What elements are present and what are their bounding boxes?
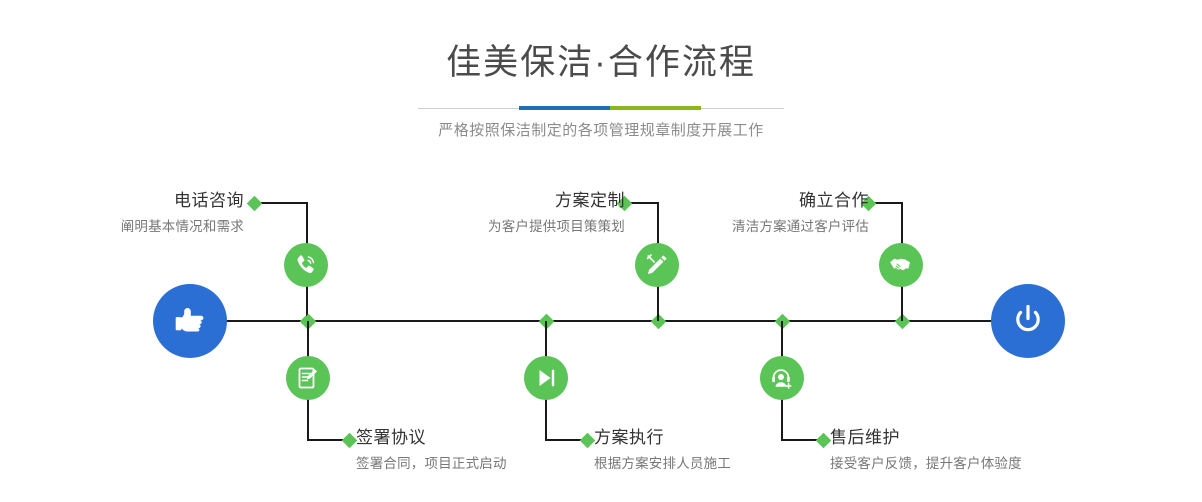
step-desc-2: 签署合同，项目正式启动 <box>356 457 507 471</box>
step-title-1: 电话咨询 <box>121 192 244 209</box>
power-icon <box>1008 299 1048 344</box>
title-divider <box>418 106 784 110</box>
step-desc-4: 根据方案安排人员施工 <box>594 457 731 471</box>
step-desc-1: 阐明基本情况和需求 <box>121 220 244 234</box>
cooperation-process-infographic: 佳美保洁·合作流程 严格按照保洁制定的各项管理规章制度开展工作 <box>0 0 1202 502</box>
step-label-6: 售后维护 接受客户反馈，提升客户体验度 <box>830 429 1022 471</box>
step-desc-3: 为客户提供项目策策划 <box>488 220 625 234</box>
step-label-4: 方案执行 根据方案安排人员施工 <box>594 429 731 471</box>
step-label-3: 方案定制 为客户提供项目策策划 <box>488 192 625 234</box>
step-title-2: 签署协议 <box>356 429 507 446</box>
label-diamond-2 <box>342 432 358 448</box>
step-icon-5[interactable] <box>879 243 923 287</box>
pencil-plan-icon <box>644 252 670 278</box>
label-diamond-6 <box>816 432 832 448</box>
label-diamond-1 <box>247 195 263 211</box>
header: 佳美保洁·合作流程 严格按照保洁制定的各项管理规章制度开展工作 <box>0 0 1202 138</box>
label-diamond-4 <box>580 432 596 448</box>
step-desc-6: 接受客户反馈，提升客户体验度 <box>830 457 1022 471</box>
divider-segment-green <box>610 106 701 110</box>
step-label-2: 签署协议 签署合同，项目正式启动 <box>356 429 507 471</box>
step-title-3: 方案定制 <box>488 192 625 209</box>
play-execute-icon <box>533 365 559 391</box>
phone-call-icon <box>293 252 319 278</box>
step-icon-4[interactable] <box>524 356 568 400</box>
customer-service-icon <box>769 365 795 391</box>
step-title-5: 确立合作 <box>732 192 869 209</box>
step-label-1: 电话咨询 阐明基本情况和需求 <box>121 192 244 234</box>
handshake-icon <box>888 252 914 278</box>
timeline-axis <box>196 320 1006 322</box>
step-icon-1[interactable] <box>284 243 328 287</box>
document-edit-icon <box>295 365 321 391</box>
step-label-5: 确立合作 清洁方案通过客户评估 <box>732 192 869 234</box>
step-icon-2[interactable] <box>286 356 330 400</box>
step-icon-3[interactable] <box>635 243 679 287</box>
timeline-start-endpoint <box>153 284 227 358</box>
step-title-6: 售后维护 <box>830 429 1022 446</box>
timeline-end-endpoint <box>991 284 1065 358</box>
pointing-hand-icon <box>170 299 210 344</box>
divider-segment-blue <box>519 106 610 110</box>
step-icon-6[interactable] <box>760 356 804 400</box>
step-desc-5: 清洁方案通过客户评估 <box>732 220 869 234</box>
page-subtitle: 严格按照保洁制定的各项管理规章制度开展工作 <box>0 123 1202 138</box>
step-title-4: 方案执行 <box>594 429 731 446</box>
page-title: 佳美保洁·合作流程 <box>0 45 1202 80</box>
